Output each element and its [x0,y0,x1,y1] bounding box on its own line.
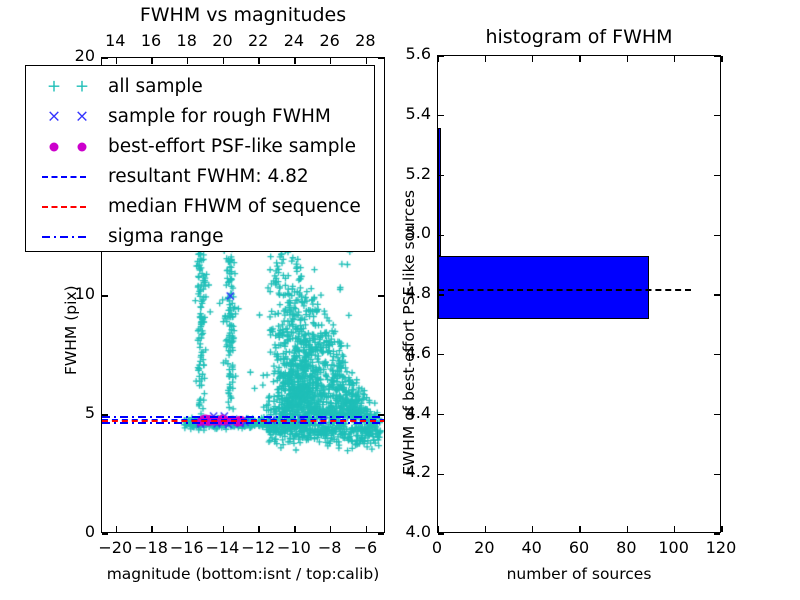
right-xtick [532,526,533,532]
left-top-xtick-label: 14 [97,31,133,50]
left-panel-ylabel: FWHM (pix) [62,285,80,375]
left-xtick-label: −16 [169,538,205,557]
left-xtick-label: −20 [97,538,133,557]
right-xtick [532,56,533,62]
right-xtick-label: 100 [654,538,694,557]
left-xtick [294,526,295,532]
left-xtick [116,58,117,64]
left-xtick [223,58,224,64]
right-xtick [627,526,628,532]
right-ytick [438,414,444,415]
left-xtick [366,58,367,64]
left-top-xtick-label: 16 [133,31,169,50]
left-panel-title: FWHM vs magnitudes [101,4,385,26]
left-ytick [102,295,108,296]
left-ytick [102,414,108,415]
left-ytick [378,57,384,58]
left-ytick-label: 0 [55,522,95,541]
histogram-resultant-fwhm-line [438,289,691,291]
left-xtick [258,58,259,64]
left-xtick-label: −18 [133,538,169,557]
left-ytick-label: 5 [55,403,95,422]
right-xtick-label: 80 [606,538,646,557]
right-ytick [438,533,444,534]
legend-item-2[interactable]: best-effort PSF-like sample [34,132,364,162]
cross-icon: × [47,109,61,126]
left-xtick [366,526,367,532]
left-ytick [102,57,108,58]
plus-icon: + [47,79,61,96]
right-ytick-label: 5.6 [385,44,431,63]
left-xtick [223,526,224,532]
dot-icon [50,143,59,152]
right-ytick [714,235,720,236]
left-xtick [187,526,188,532]
right-xtick [674,56,675,62]
left-top-xtick-label: 28 [347,31,383,50]
left-ytick [378,533,384,534]
legend-label: sigma range [108,228,224,247]
legend-handle-dashdot-line-icon [34,224,100,250]
right-xtick-label: 0 [417,538,457,557]
left-top-xtick-label: 20 [204,31,240,50]
legend-label: sample for rough FWHM [108,108,331,127]
right-xtick [485,56,486,62]
left-panel-xlabel: magnitude (bottom:isnt / top:calib) [56,565,430,583]
right-ytick [438,474,444,475]
legend-item-1[interactable]: ××sample for rough FWHM [34,102,364,132]
cross-icon: × [75,109,89,126]
right-panel-xlabel: number of sources [449,565,709,583]
right-xtick [674,526,675,532]
right-ytick-label: 5.2 [385,164,431,183]
right-xtick-label: 20 [464,538,504,557]
reference-line-sigma-range-upper [102,416,384,418]
plus-icon: + [75,79,89,96]
right-xtick [485,526,486,532]
legend-label: all sample [108,78,203,97]
histogram-bar [438,256,649,319]
right-ytick [438,354,444,355]
left-xtick [330,526,331,532]
right-ytick [438,235,444,236]
left-xtick [151,58,152,64]
left-top-xtick-label: 26 [312,31,348,50]
left-xtick [151,526,152,532]
dashed-line-icon [42,206,86,208]
right-xtick [721,526,722,532]
right-ytick [714,354,720,355]
right-ytick [714,115,720,116]
right-ytick-label: 5.4 [385,104,431,123]
right-ytick [438,115,444,116]
legend-handle-cross-icon: ×× [34,104,100,130]
histogram-axes[interactable] [437,55,721,533]
legend-item-3[interactable]: resultant FWHM: 4.82 [34,162,364,192]
matplotlib-figure: FWHM vs magnitudes 1416182022242628 −20−… [0,0,800,600]
left-xtick [258,526,259,532]
legend-handle-plus-icon: ++ [34,74,100,100]
left-xtick-label: −6 [347,538,383,557]
reference-line-sigma-range-lower [102,422,384,424]
legend-label: median FHWM of sequence [108,198,361,217]
left-top-xtick-label: 18 [169,31,205,50]
left-xtick [187,58,188,64]
right-panel-ylabel: FWHM of best-effort PSF-like sources [400,190,418,475]
legend-handle-dot-icon [34,134,100,160]
dashdot-line-icon [42,236,86,238]
legend-label: best-effort PSF-like sample [108,138,356,157]
right-ytick [438,175,444,176]
right-xtick [721,56,722,62]
right-ytick [438,55,444,56]
left-ytick [378,295,384,296]
right-ytick [714,294,720,295]
right-xtick-label: 60 [559,538,599,557]
left-xtick [294,58,295,64]
right-ytick [714,414,720,415]
left-ytick [378,414,384,415]
legend-handle-dashed-line-icon [34,194,100,220]
right-ytick [714,175,720,176]
right-ytick [714,533,720,534]
left-ytick-label: 20 [55,46,95,65]
left-xtick [116,526,117,532]
left-xtick-label: −12 [240,538,276,557]
right-xtick [579,526,580,532]
legend-item-5[interactable]: sigma range [34,222,364,252]
left-xtick [330,58,331,64]
legend-label: resultant FWHM: 4.82 [108,168,309,187]
left-xtick-label: −14 [204,538,240,557]
right-xtick [627,56,628,62]
right-ytick [714,474,720,475]
dashed-line-icon [42,176,86,178]
legend-handle-dashed-line-icon [34,164,100,190]
legend-item-4[interactable]: median FHWM of sequence [34,192,364,222]
right-ytick [438,294,444,295]
right-xtick-label: 120 [701,538,741,557]
legend[interactable]: ++all sample××sample for rough FWHMbest-… [25,65,375,252]
right-xtick-label: 40 [512,538,552,557]
histogram-bar [438,128,441,256]
left-top-xtick-label: 24 [276,31,312,50]
left-xtick-label: −8 [312,538,348,557]
right-panel-title: histogram of FWHM [437,26,721,48]
left-top-xtick-label: 22 [240,31,276,50]
left-ytick [102,533,108,534]
left-xtick-label: −10 [276,538,312,557]
right-xtick [437,526,438,532]
dot-icon [78,143,87,152]
right-ytick [714,55,720,56]
legend-item-0[interactable]: ++all sample [34,72,364,102]
right-xtick [437,56,438,62]
right-xtick [579,56,580,62]
